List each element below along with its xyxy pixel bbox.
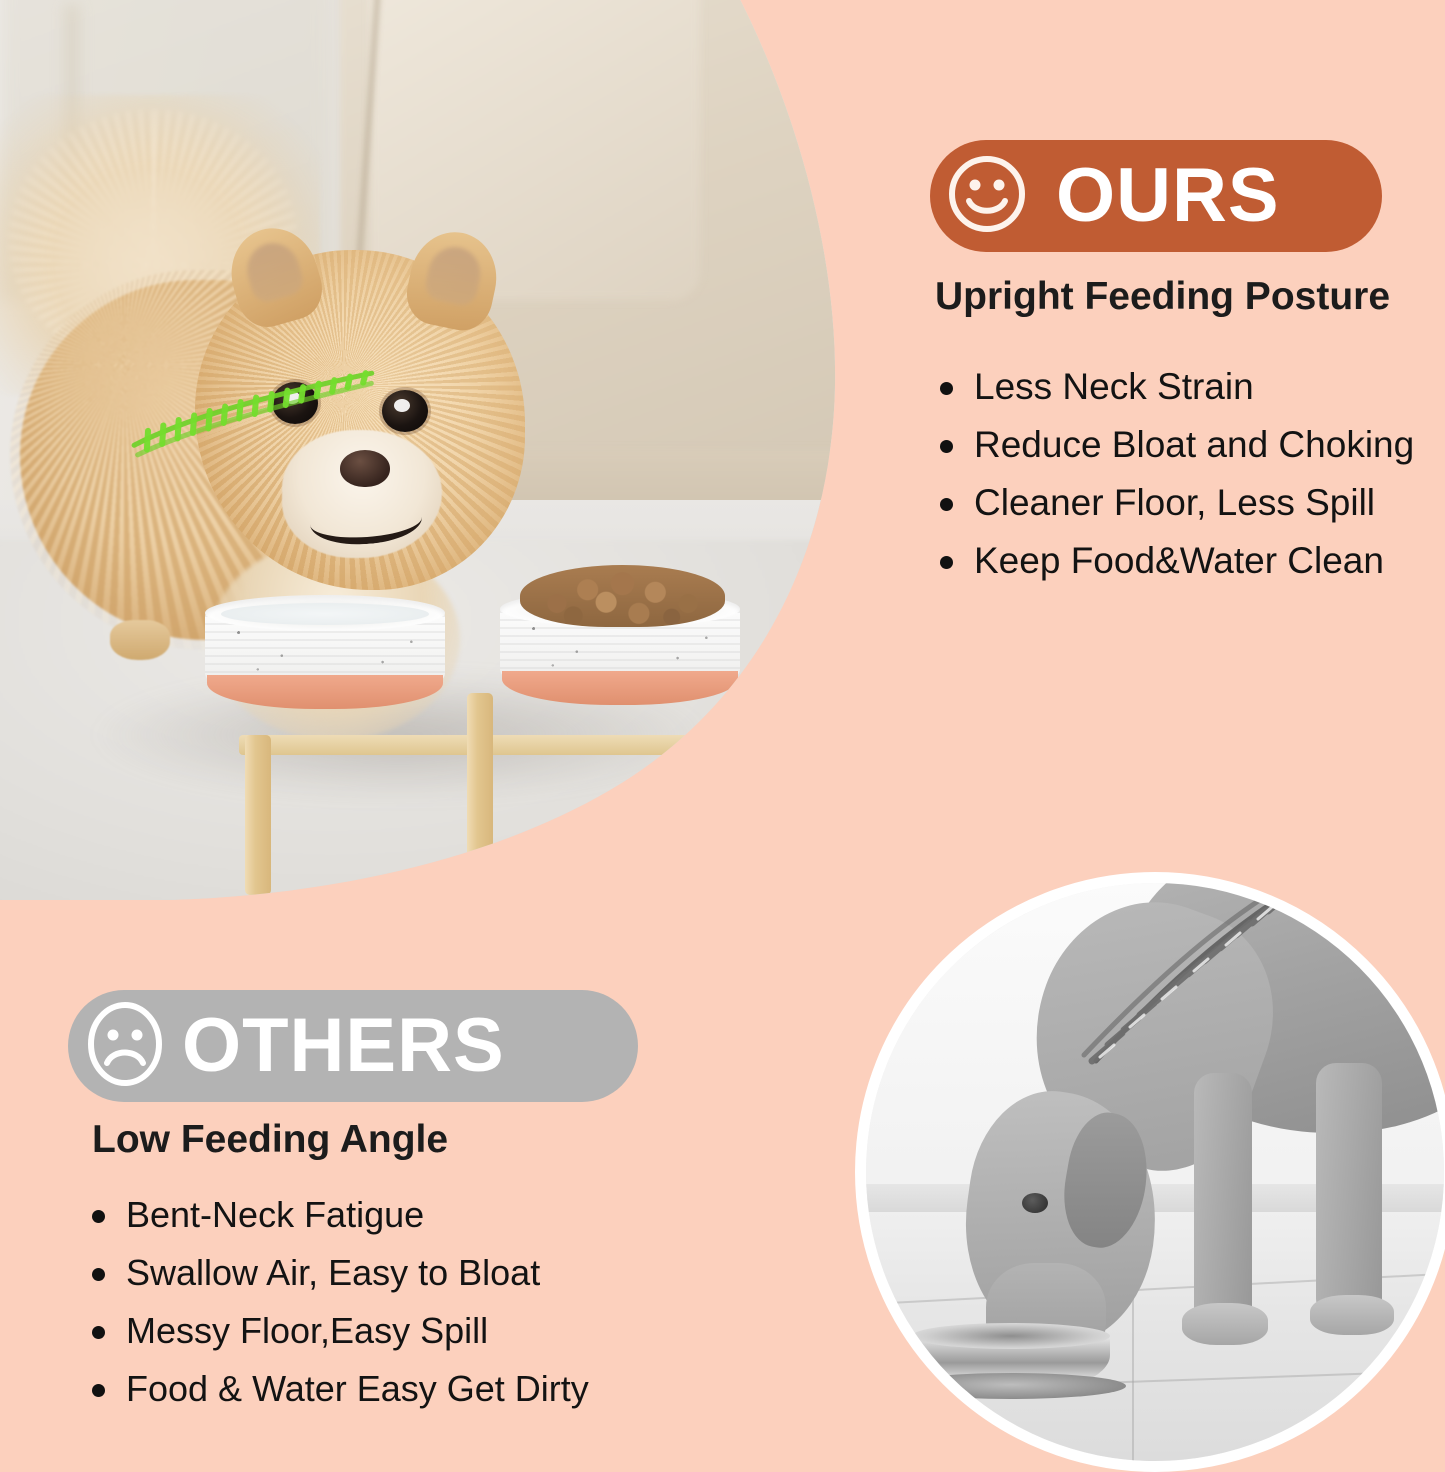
pomeranian-with-elevated-bowls-photo	[0, 0, 870, 920]
stand-leg-2	[467, 693, 493, 871]
list-item-label: Cleaner Floor, Less Spill	[974, 482, 1375, 524]
grey-dog-hind-leg	[1316, 1063, 1382, 1313]
infographic-canvas: OURS Upright Feeding Posture Less Neck S…	[0, 0, 1445, 1445]
dog-nose	[340, 450, 390, 487]
bullet-dot-icon	[92, 1268, 105, 1281]
stand-leg-1	[245, 735, 271, 895]
list-item: Swallow Air, Easy to Bloat	[92, 1252, 589, 1294]
list-item-label: Bent-Neck Fatigue	[126, 1194, 424, 1236]
list-item: Bent-Neck Fatigue	[92, 1194, 589, 1236]
grey-dog-paw-hind	[1310, 1295, 1394, 1335]
ours-badge: OURS	[930, 140, 1382, 252]
list-item: Keep Food&Water Clean	[940, 540, 1414, 582]
food-bowl-band	[502, 671, 738, 705]
list-item-label: Food & Water Easy Get Dirty	[126, 1368, 589, 1410]
grey-dog-eye	[1022, 1193, 1048, 1213]
smiley-face-icon	[944, 151, 1030, 242]
list-item-label: Less Neck Strain	[974, 366, 1254, 408]
list-item: Messy Floor,Easy Spill	[92, 1310, 589, 1352]
sad-face-icon	[82, 997, 168, 1096]
bullet-dot-icon	[92, 1384, 105, 1397]
dog-paw	[110, 620, 170, 660]
list-item-label: Keep Food&Water Clean	[974, 540, 1384, 582]
list-item: Cleaner Floor, Less Spill	[940, 482, 1414, 524]
dog-eating-from-floor-bowl-photo	[855, 872, 1445, 1472]
red-spine-overlay-icon	[1018, 873, 1318, 1103]
ours-badge-label: OURS	[1056, 158, 1280, 234]
others-drawback-list: Bent-Neck Fatigue Swallow Air, Easy to B…	[92, 1194, 589, 1426]
list-item-label: Swallow Air, Easy to Bloat	[126, 1252, 540, 1294]
list-item: Reduce Bloat and Choking	[940, 424, 1414, 466]
stainless-steel-floor-bowl	[896, 1321, 1126, 1407]
elevated-bowl-stand	[205, 585, 790, 875]
list-item: Food & Water Easy Get Dirty	[92, 1368, 589, 1410]
food-bowl	[500, 591, 740, 701]
others-badge-label: OTHERS	[182, 1008, 505, 1084]
stand-leg-3	[713, 727, 739, 899]
bullet-dot-icon	[940, 440, 953, 453]
list-item-label: Reduce Bloat and Choking	[974, 424, 1414, 466]
ours-heading: Upright Feeding Posture	[935, 275, 1390, 319]
list-item-label: Messy Floor,Easy Spill	[126, 1310, 488, 1352]
others-heading: Low Feeding Angle	[92, 1118, 448, 1162]
bullet-dot-icon	[92, 1210, 105, 1223]
steel-bowl-base-rim	[896, 1373, 1126, 1399]
steel-bowl-opening	[912, 1323, 1110, 1349]
bullet-dot-icon	[940, 382, 953, 395]
ours-benefit-list: Less Neck Strain Reduce Bloat and Chokin…	[940, 366, 1414, 598]
kibble-pile	[520, 565, 725, 627]
bullet-dot-icon	[92, 1326, 105, 1339]
bullet-dot-icon	[940, 556, 953, 569]
list-item: Less Neck Strain	[940, 366, 1414, 408]
dog-eye-right	[382, 390, 428, 432]
bullet-dot-icon	[940, 498, 953, 511]
water-bowl	[205, 595, 445, 705]
grey-dog-paw-front	[1182, 1303, 1268, 1345]
water-bowl-band	[207, 675, 443, 709]
water-surface	[221, 603, 429, 625]
grey-dog-front-leg	[1194, 1073, 1252, 1323]
others-badge: OTHERS	[68, 990, 638, 1102]
stand-rail-back	[239, 735, 759, 755]
